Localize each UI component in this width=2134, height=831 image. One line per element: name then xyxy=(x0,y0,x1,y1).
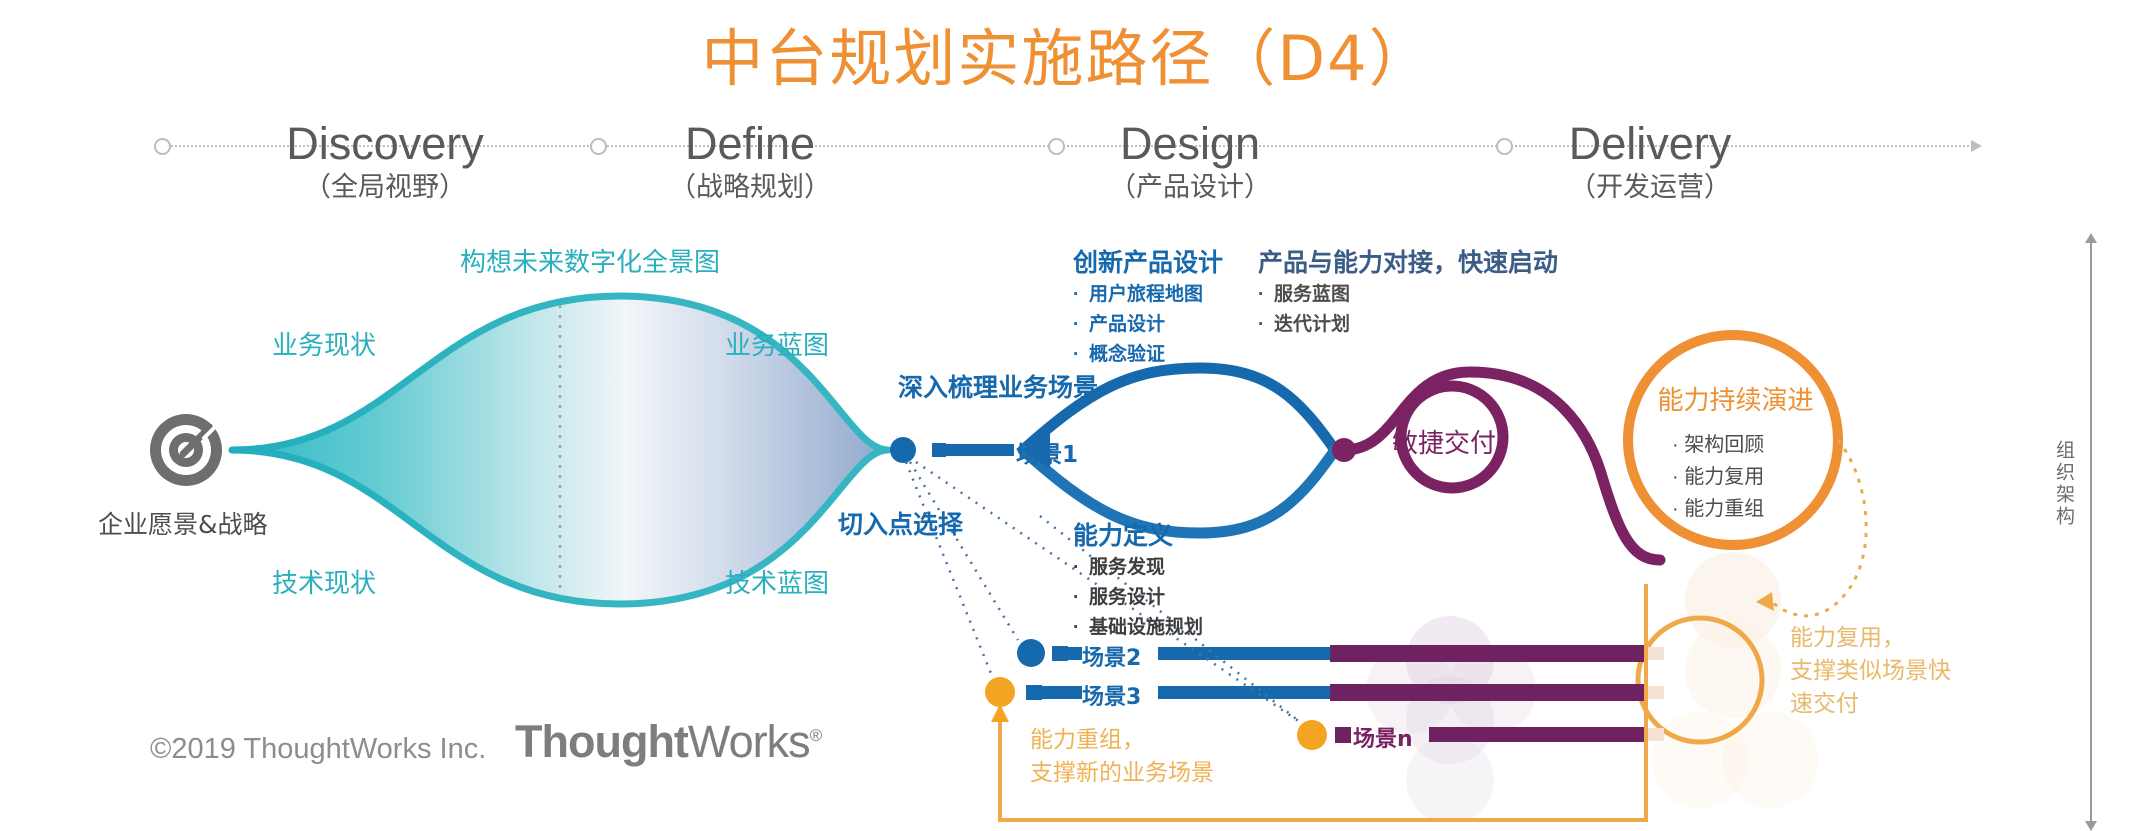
label: 能力复用 xyxy=(1684,466,1764,488)
scenario-n-label: 场景n xyxy=(1353,721,1413,753)
scenario-3-label: 场景3 xyxy=(1082,679,1141,711)
evolution-item-2: · 能力重组 xyxy=(1672,493,1833,525)
reuse-note-line-2: 速交付 xyxy=(1790,688,1951,721)
define-headline: 深入梳理业务场景 xyxy=(898,368,1098,404)
launch-block: 产品与能力对接，快速启动 ·服务蓝图 ·迭代计划 xyxy=(1258,246,1558,340)
product-design-title: 创新产品设计 xyxy=(1073,246,1223,280)
discovery-headline: 构想未来数字化全景图 xyxy=(460,242,720,279)
copyright-text: ©2019 ThoughtWorks Inc. xyxy=(150,733,486,766)
label: 基础设施规划 xyxy=(1089,617,1203,638)
axis-arrow-down-icon xyxy=(2085,821,2097,831)
label: 产品设计 xyxy=(1089,314,1165,335)
axis-line xyxy=(2090,242,2092,822)
label: 服务设计 xyxy=(1089,587,1165,608)
reuse-note-line-0: 能力复用， xyxy=(1790,622,1951,655)
evolution-block: 能力持续演进 · 架构回顾 · 能力复用 · 能力重组 xyxy=(1638,380,1833,525)
label: 服务蓝图 xyxy=(1274,284,1350,305)
reuse-note: 能力复用， 支撑类似场景快 速交付 xyxy=(1790,622,1951,721)
label: 服务发现 xyxy=(1089,557,1165,578)
label: 架构回顾 xyxy=(1684,434,1764,456)
capability-item-2: ·基础设施规划 xyxy=(1073,613,1203,643)
org-structure-label: 组织架构 xyxy=(2051,440,2078,528)
recombine-note: 能力重组， 支撑新的业务场景 xyxy=(1030,724,1214,790)
scenario-1-label: 场景1 xyxy=(1016,435,1078,469)
launch-item-0: ·服务蓝图 xyxy=(1258,280,1558,310)
vision-strategy-label: 企业愿景&战略 xyxy=(98,505,268,541)
evolution-item-0: · 架构回顾 xyxy=(1672,429,1833,461)
discovery-tech-current: 技术现状 xyxy=(272,563,376,600)
capability-item-1: ·服务设计 xyxy=(1073,583,1203,613)
label: 能力重组 xyxy=(1684,498,1764,520)
capability-item-0: ·服务发现 xyxy=(1073,553,1203,583)
product-design-item-1: ·产品设计 xyxy=(1073,310,1223,340)
scenario-2-label: 场景2 xyxy=(1082,640,1141,672)
recombine-note-line-1: 支撑新的业务场景 xyxy=(1030,757,1214,790)
recombine-note-line-0: 能力重组， xyxy=(1030,724,1214,757)
discovery-tech-blueprint: 技术蓝图 xyxy=(725,563,829,600)
launch-title: 产品与能力对接，快速启动 xyxy=(1258,246,1558,280)
org-structure-axis xyxy=(2090,242,2092,822)
target-icon xyxy=(150,414,222,486)
label: 概念验证 xyxy=(1089,344,1165,365)
capability-title: 能力定义 xyxy=(1073,519,1203,553)
label: 用户旅程地图 xyxy=(1089,284,1203,305)
reuse-note-line-1: 支撑类似场景快 xyxy=(1790,655,1951,688)
evolution-item-1: · 能力复用 xyxy=(1672,461,1833,493)
logo-registered-mark: ® xyxy=(810,726,822,745)
product-design-item-2: ·概念验证 xyxy=(1073,340,1223,370)
launch-item-1: ·迭代计划 xyxy=(1258,310,1558,340)
discovery-business-current: 业务现状 xyxy=(272,325,376,362)
discovery-business-blueprint: 业务蓝图 xyxy=(725,325,829,362)
evolution-title: 能力持续演进 xyxy=(1638,380,1833,417)
thoughtworks-logo: ThoughtWorks® xyxy=(515,716,821,768)
define-entry-node xyxy=(890,437,1014,463)
label: 迭代计划 xyxy=(1274,314,1350,335)
delivery-loop xyxy=(1332,372,1660,560)
entry-point-label: 切入点选择 xyxy=(838,505,963,541)
axis-arrow-up-icon xyxy=(2085,233,2097,243)
agile-delivery-label: 敏捷交付 xyxy=(1392,423,1496,460)
product-design-block: 创新产品设计 ·用户旅程地图 ·产品设计 ·概念验证 xyxy=(1073,246,1223,370)
logo-light-part: Works xyxy=(688,716,810,767)
logo-bold-part: Thought xyxy=(515,716,688,767)
product-design-item-0: ·用户旅程地图 xyxy=(1073,280,1223,310)
capability-block: 能力定义 ·服务发现 ·服务设计 ·基础设施规划 xyxy=(1073,519,1203,643)
